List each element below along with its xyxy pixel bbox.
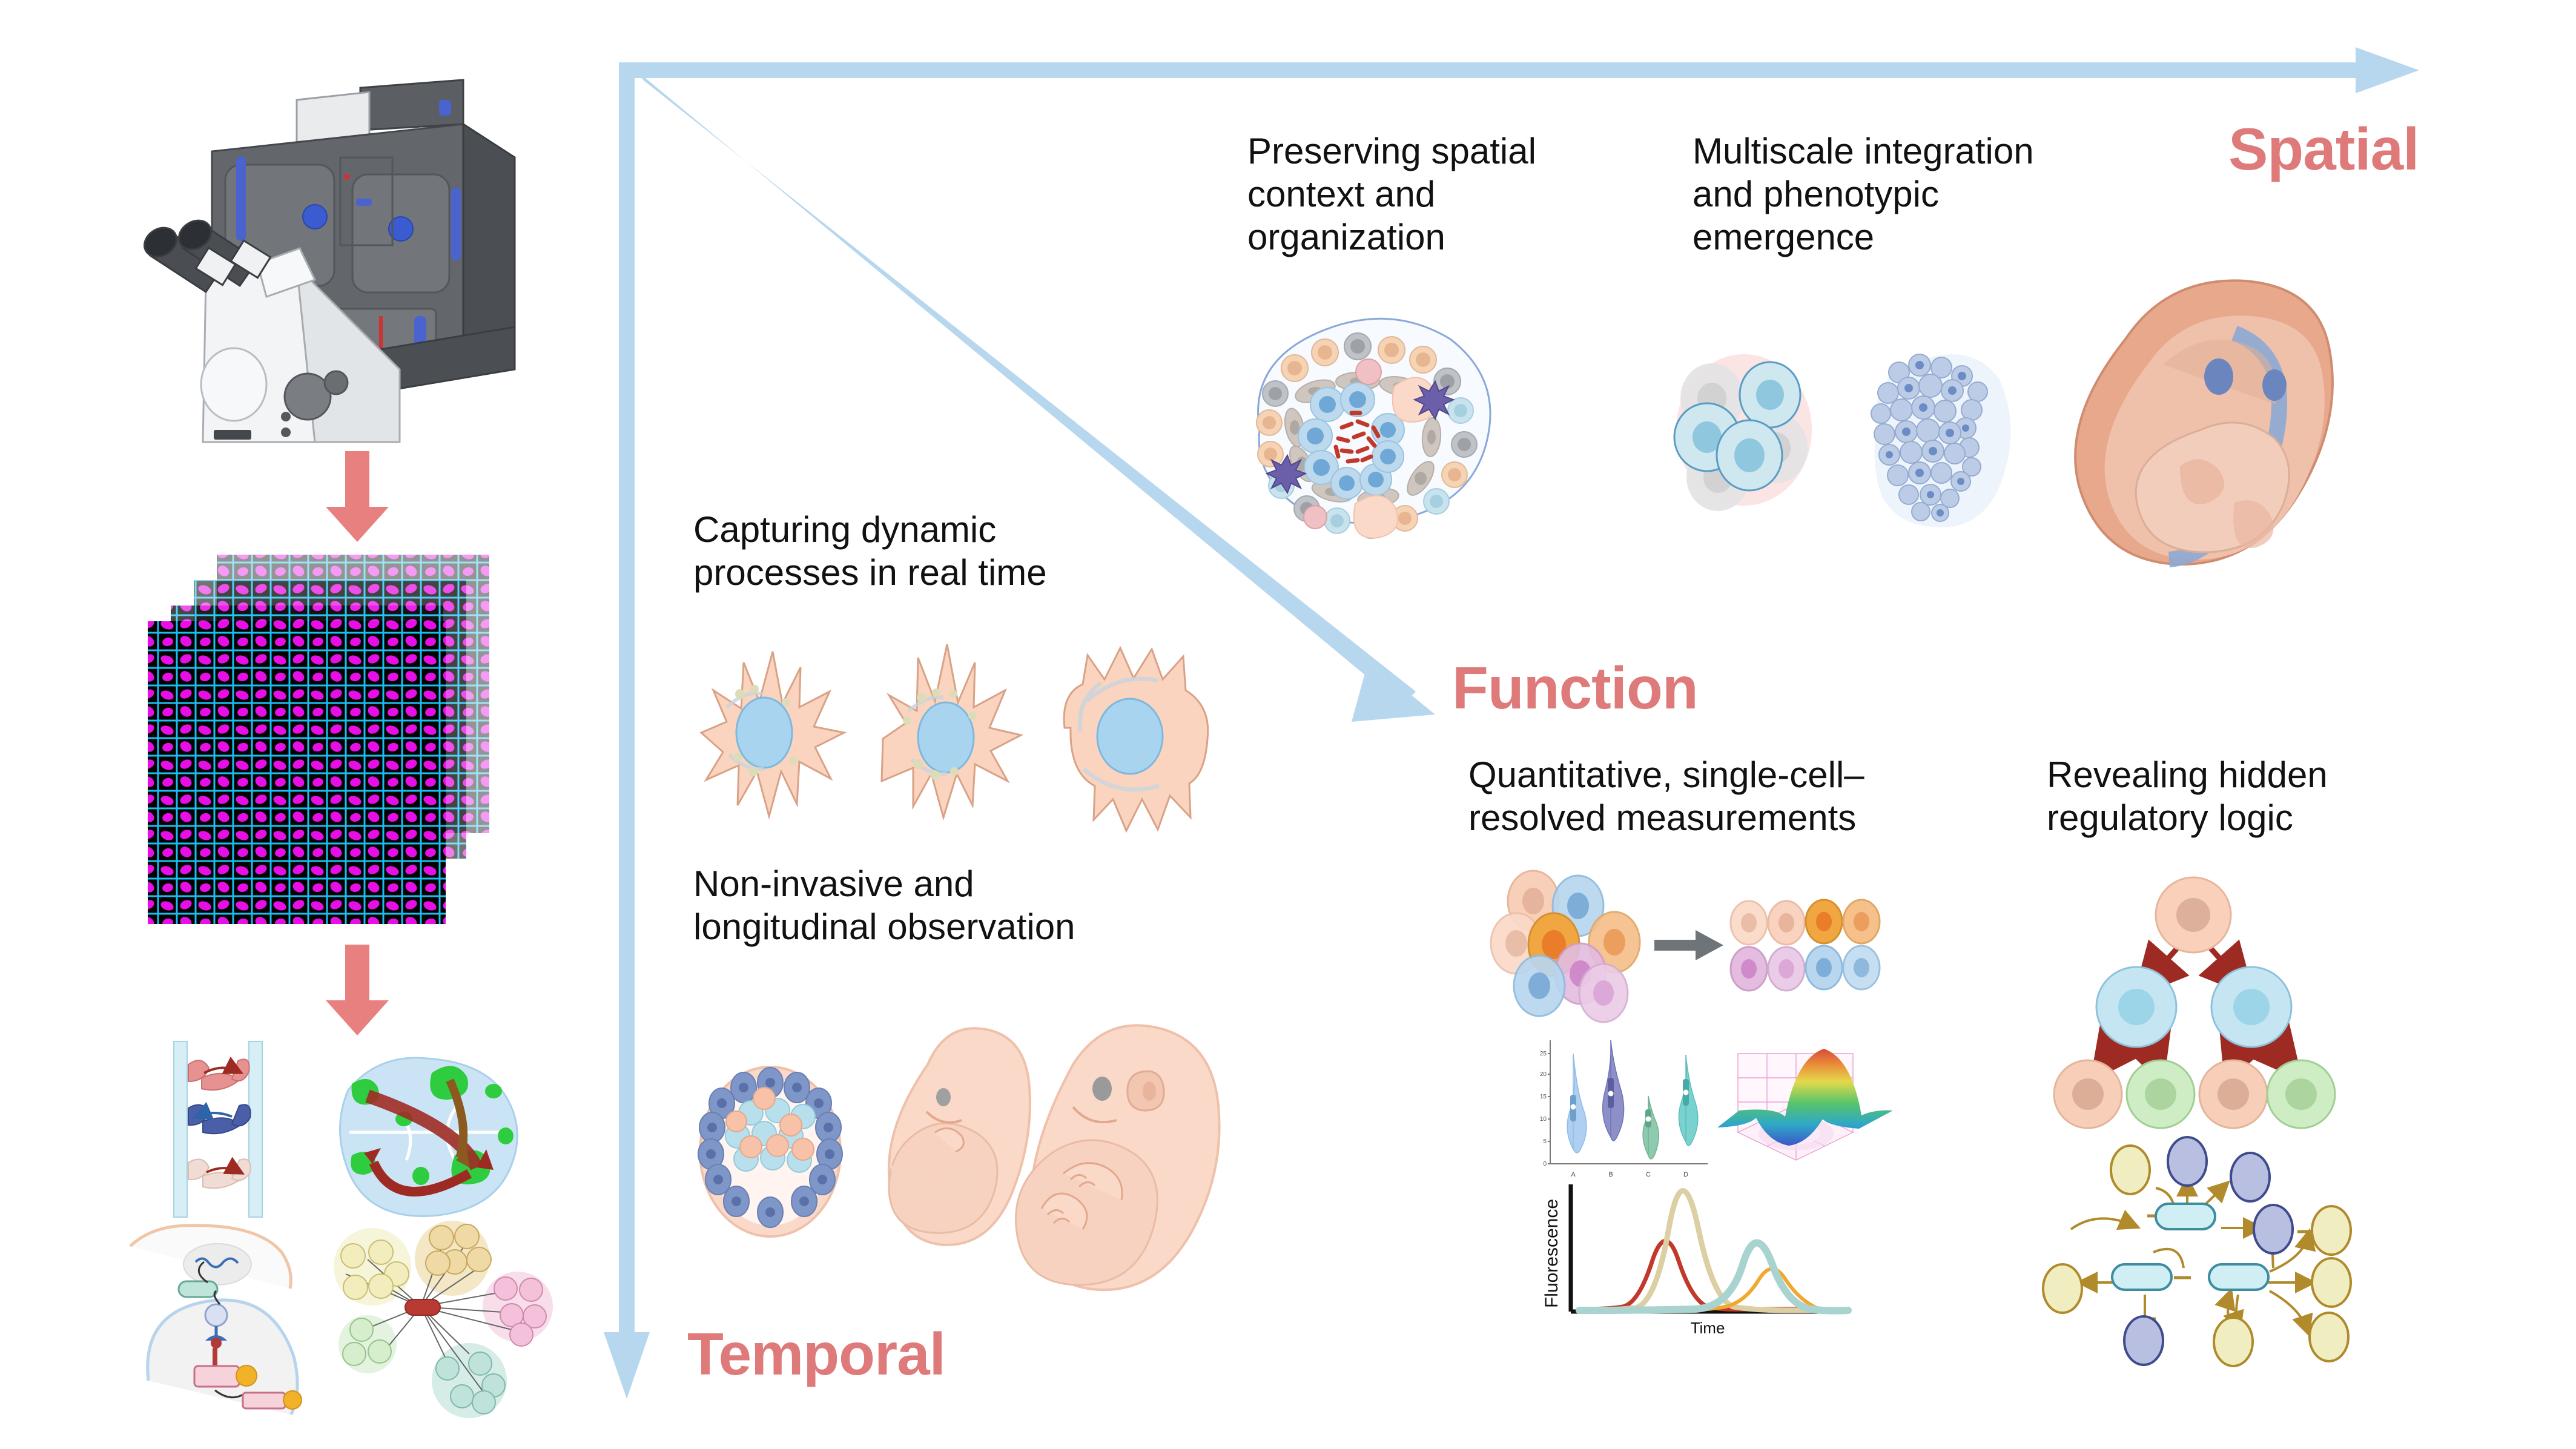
pipeline-arrow-down-icon bbox=[321, 451, 394, 542]
fluorescence-traces-chart: Fluorescence Time bbox=[1526, 1175, 1865, 1338]
caption-quantitative: Quantitative, single-cell– resolved meas… bbox=[1468, 754, 2013, 840]
figure-canvas: .ax{fill:#B7D7EF;} Spatial Function Temp… bbox=[0, 0, 2576, 1449]
ytick-15: 15 bbox=[1540, 1094, 1547, 1100]
spatial-axis-label: Spatial bbox=[2228, 115, 2419, 183]
lineage-tree-graphic bbox=[2016, 881, 2356, 1123]
violin-and-surface-charts: 0 5 10 15 20 25 bbox=[1514, 1029, 1901, 1187]
early-embryo-stage bbox=[889, 1028, 1030, 1245]
tissue-cross-section-graphic bbox=[1223, 309, 1502, 551]
spatial-axis-arrow bbox=[619, 47, 2419, 93]
brain-connectivity-panel bbox=[340, 1058, 517, 1216]
trace-tan bbox=[1579, 1190, 1843, 1310]
ytick-25: 25 bbox=[1540, 1051, 1547, 1057]
temporal-axis-arrow bbox=[604, 62, 650, 1399]
gene-regulatory-network-graphic bbox=[1956, 1126, 2404, 1393]
x-axis-label: Time bbox=[1691, 1319, 1725, 1337]
segmentation-arrow-icon bbox=[1654, 930, 1723, 960]
caption-dynamic-processes: Capturing dynamic processes in real time bbox=[693, 509, 1190, 595]
segmented-cells bbox=[1731, 900, 1880, 991]
late-embryo-stage bbox=[1016, 1025, 1220, 1290]
motile-cells-graphic bbox=[684, 630, 1223, 817]
temporal-axis-label: Temporal bbox=[687, 1320, 945, 1388]
ytick-0: 0 bbox=[1543, 1161, 1547, 1167]
surface-plot-chart bbox=[1717, 1049, 1893, 1160]
y-axis-label: Fluorescence bbox=[1542, 1199, 1562, 1308]
embryo-graphic bbox=[2053, 266, 2343, 569]
caption-non-invasive: Non-invasive and longitudinal observatio… bbox=[693, 863, 1238, 949]
signaling-panel bbox=[130, 1226, 302, 1414]
trace-orange bbox=[1671, 1269, 1848, 1310]
caption-multiscale: Multiscale integration and phenotypic em… bbox=[1693, 130, 2153, 259]
blastocyst-stage bbox=[698, 1067, 842, 1236]
grn-hub-1 bbox=[2156, 1204, 2215, 1229]
image-stack-icon bbox=[139, 545, 515, 932]
caption-regulatory: Revealing hidden regulatory logic bbox=[2047, 754, 2434, 840]
grn-hub-3 bbox=[2209, 1264, 2268, 1290]
grn-hub-2 bbox=[2112, 1264, 2171, 1290]
embryo-time-series-graphic bbox=[678, 987, 1223, 1259]
function-axis-label: Function bbox=[1452, 654, 1698, 722]
ytick-10: 10 bbox=[1540, 1116, 1547, 1123]
analysis-grid-icon bbox=[130, 1017, 542, 1417]
cell-aggregate-graphic bbox=[1853, 330, 2010, 530]
cell-segmentation-graphic bbox=[1490, 872, 1914, 1023]
microscope-icon bbox=[115, 67, 539, 442]
violin-plot-chart: 0 5 10 15 20 25 bbox=[1540, 1040, 1708, 1178]
ytick-20: 20 bbox=[1540, 1071, 1547, 1078]
caption-spatial-context: Preserving spatial context and organizat… bbox=[1247, 130, 1659, 259]
ytick-5: 5 bbox=[1543, 1138, 1547, 1145]
few-cells-graphic bbox=[1668, 351, 1820, 509]
cell-cluster bbox=[1491, 871, 1640, 1022]
cell-migration-panel bbox=[174, 1041, 262, 1217]
network-hub-panel bbox=[334, 1221, 553, 1418]
